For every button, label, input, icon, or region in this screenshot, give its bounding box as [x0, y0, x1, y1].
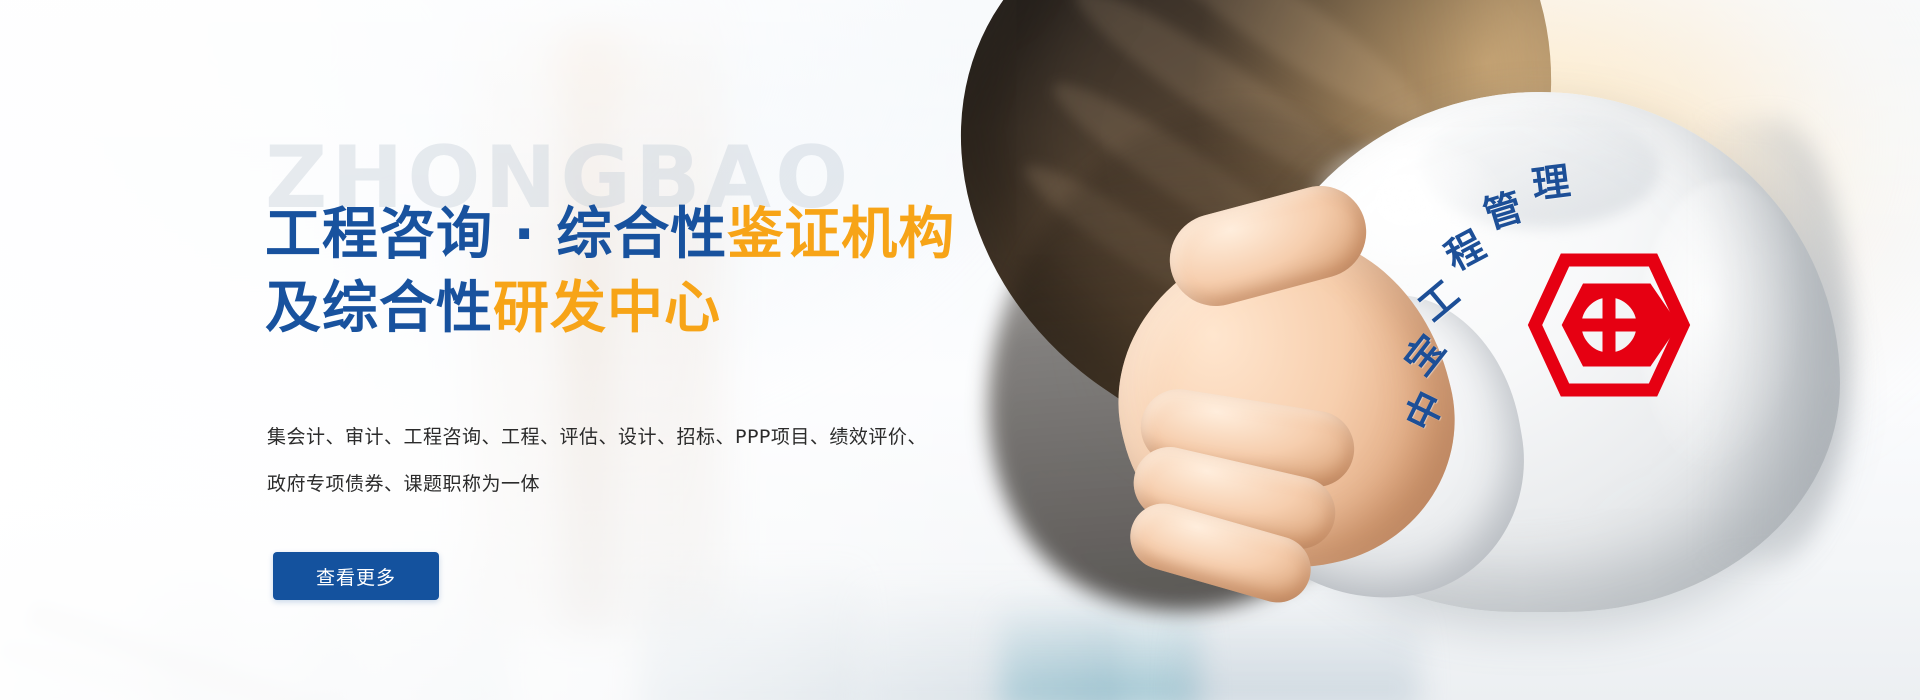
description-line-1: 集会计、审计、工程咨询、工程、评估、设计、招标、PPP项目、绩效评价、 — [267, 414, 907, 461]
helmet-char-2: 宝 — [1398, 328, 1451, 381]
page-title: 工程咨询 · 综合性鉴证机构 及综合性研发中心 — [265, 198, 985, 346]
view-more-button[interactable]: 查看更多 — [273, 552, 439, 600]
helmet-char-1: 中 — [1400, 386, 1451, 437]
hero-banner: 中 宝 工 程 管 理 ZHONGBAO 工程咨询 · 综 — [0, 0, 1920, 700]
helmet-right-shading — [1700, 120, 1850, 560]
helmet-char-3: 工 — [1412, 274, 1466, 328]
banner-description: 集会计、审计、工程咨询、工程、评估、设计、招标、PPP项目、绩效评价、 政府专项… — [267, 414, 907, 508]
helmet-char-6: 理 — [1530, 162, 1572, 204]
description-line-2: 政府专项债券、课题职称为一体 — [267, 461, 907, 508]
headline-line-2: 及综合性研发中心 — [265, 272, 985, 346]
banner-content: ZHONGBAO 工程咨询 · 综合性鉴证机构 及综合性研发中心 集会计、审计、… — [265, 0, 1005, 700]
headline-line1-orange: 鉴证机构 — [727, 202, 955, 267]
helmet-char-5: 管 — [1479, 187, 1526, 234]
headline-line2-orange: 研发中心 — [493, 276, 721, 341]
headline-line-1: 工程咨询 · 综合性鉴证机构 — [265, 198, 985, 272]
zhongbao-hexagon-logo — [1525, 250, 1693, 400]
helmet-char-4: 程 — [1439, 225, 1490, 276]
headline-line2-blue: 及综合性 — [265, 276, 493, 341]
background-building — [1180, 600, 1420, 700]
headline-line1-blue: 工程咨询 · 综合性 — [265, 202, 727, 267]
